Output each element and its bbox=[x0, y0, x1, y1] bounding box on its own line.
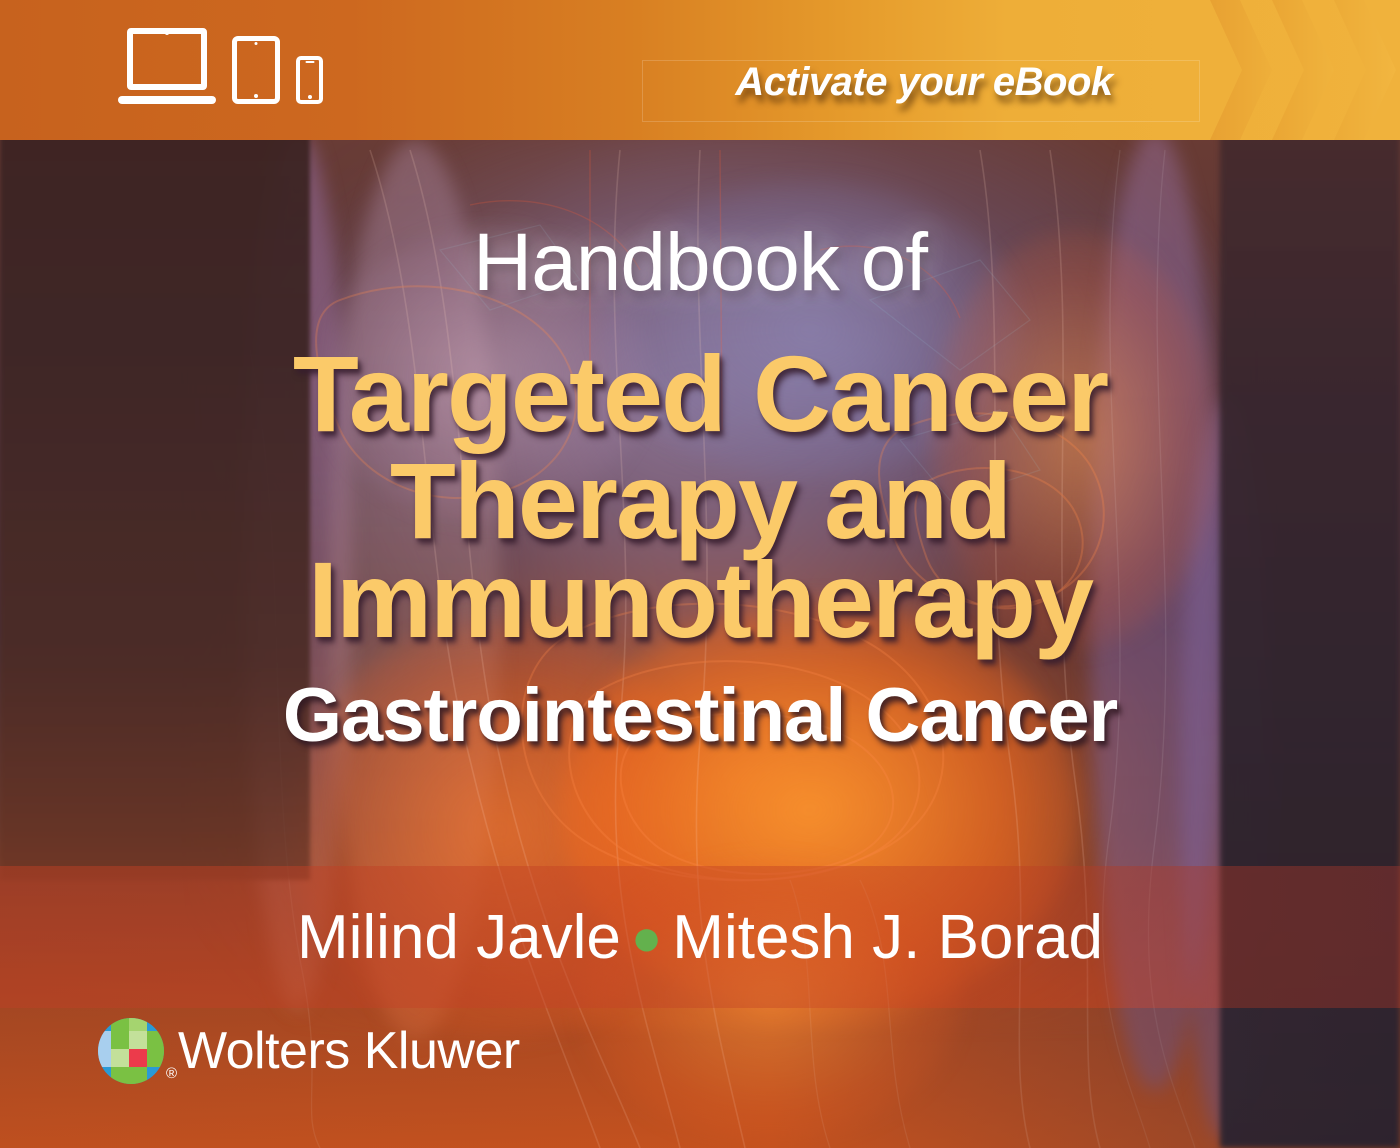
book-cover: Activate your eBook Handb bbox=[0, 0, 1400, 1148]
author-separator-bullet: ● bbox=[621, 909, 672, 967]
activate-ebook-label[interactable]: Activate your eBook bbox=[664, 60, 1184, 105]
title-prefix: Handbook of bbox=[0, 216, 1400, 310]
chevron-icon-1 bbox=[1210, 0, 1272, 140]
phone-icon bbox=[296, 56, 323, 104]
laptop-icon bbox=[118, 28, 216, 104]
subtitle: Gastrointestinal Cancer bbox=[0, 672, 1400, 759]
author-first: Milind Javle bbox=[297, 903, 621, 972]
wolters-kluwer-logo: ® bbox=[98, 1018, 164, 1084]
publisher-logo-group: ® Wolters Kluwer bbox=[98, 1018, 520, 1084]
tablet-camera-dot bbox=[255, 42, 258, 45]
chevron-icon-3 bbox=[1334, 0, 1396, 140]
device-icons-group bbox=[118, 28, 323, 104]
tablet-home-dot bbox=[254, 94, 258, 98]
laptop-screen-shape bbox=[127, 28, 207, 90]
laptop-base-shape bbox=[118, 96, 216, 104]
laptop-camera-dot bbox=[165, 31, 169, 35]
wolters-kluwer-mark-icon bbox=[98, 1018, 164, 1084]
author-second: Mitesh J. Borad bbox=[672, 903, 1103, 972]
publisher-name: Wolters Kluwer bbox=[178, 1021, 520, 1081]
tablet-icon bbox=[232, 36, 280, 104]
phone-speaker-slot bbox=[305, 61, 314, 63]
registered-trademark-icon: ® bbox=[166, 1065, 177, 1082]
title-line-3: Immunotherapy bbox=[0, 537, 1400, 662]
chevron-icon-2 bbox=[1272, 0, 1334, 140]
chevron-arrows-group bbox=[1180, 0, 1400, 140]
phone-home-dot bbox=[308, 95, 312, 99]
authors-line: Milind Javle●Mitesh J. Borad bbox=[0, 902, 1400, 973]
activate-ebook-banner: Activate your eBook bbox=[0, 0, 1400, 140]
